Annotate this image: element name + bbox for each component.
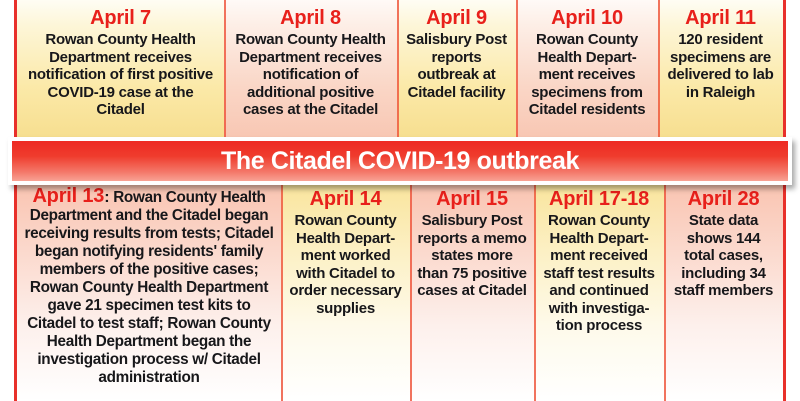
- timeline-date-april-15: April 15: [417, 187, 527, 211]
- banner-frame: The Citadel COVID-19 outbreak: [8, 137, 792, 185]
- citadel-outbreak-timeline-infographic: April 7 Rowan County Health Department r…: [0, 0, 800, 401]
- timeline-cell-april-28: April 28 State data shows 144 total case…: [664, 181, 783, 401]
- timeline-cell-april-7: April 7 Rowan County Health Department r…: [17, 0, 224, 141]
- timeline-text-april-14: Rowan County Health Depart-​ment worked …: [288, 212, 403, 317]
- banner-title: The Citadel COVID-19 outbreak: [221, 148, 579, 175]
- timeline-text-april-7: Rowan County Health Department receives …: [24, 31, 217, 119]
- timeline-date-april-8: April 8: [231, 6, 390, 30]
- timeline-cell-april-9: April 9 Salisbury Post reports outbreak …: [397, 0, 516, 141]
- timeline-date-april-28: April 28: [671, 187, 776, 211]
- timeline-cell-april-14: April 14 Rowan County Health Depart-​men…: [281, 181, 410, 401]
- timeline-bottom-row: April 13: Rowan County Health Department…: [14, 181, 786, 401]
- timeline-cell-april-8: April 8 Rowan County Health Department r…: [224, 0, 397, 141]
- timeline-cell-april-10: April 10 Rowan County Health Depart-​men…: [516, 0, 658, 141]
- timeline-text-april-8: Rowan County Health Department receives …: [231, 31, 390, 119]
- timeline-date-april-10: April 10: [523, 6, 651, 30]
- timeline-text-april-9: Salisbury Post reports outbreak at Citad…: [404, 31, 509, 101]
- timeline-date-april-7: April 7: [24, 6, 217, 30]
- timeline-top-row: April 7 Rowan County Health Department r…: [14, 0, 786, 141]
- timeline-paragraph-april-13: April 13: Rowan County Health Department…: [24, 189, 273, 386]
- timeline-date-april-14: April 14: [288, 187, 403, 211]
- timeline-cell-april-13: April 13: Rowan County Health Department…: [17, 181, 281, 401]
- timeline-text-april-28: State data shows 144 total cases, includ…: [671, 212, 776, 300]
- timeline-date-april-9: April 9: [404, 6, 509, 30]
- banner: The Citadel COVID-19 outbreak: [12, 141, 788, 181]
- timeline-date-april-17-18: April 17-18: [541, 187, 657, 211]
- timeline-text-april-13: Rowan County Health Department and the C…: [24, 189, 273, 386]
- timeline-text-april-17-18: Rowan County Health Depart-​ment receive…: [541, 212, 657, 335]
- timeline-text-april-15: Salisbury Post reports a memo states mor…: [417, 212, 527, 300]
- timeline-text-april-10: Rowan County Health Depart-​ment receive…: [523, 31, 651, 119]
- timeline-cell-april-15: April 15 Salisbury Post reports a memo s…: [410, 181, 534, 401]
- timeline-date-april-13: April 13: [32, 185, 104, 207]
- timeline-text-april-11: 120 resident specimens are delivered to …: [665, 31, 776, 101]
- timeline-cell-april-17-18: April 17-18 Rowan County Health Depart-​…: [534, 181, 664, 401]
- timeline-cell-april-11: April 11 120 resident specimens are deli…: [658, 0, 783, 141]
- timeline-date-separator-april-13: :: [104, 189, 109, 206]
- timeline-date-april-11: April 11: [665, 6, 776, 30]
